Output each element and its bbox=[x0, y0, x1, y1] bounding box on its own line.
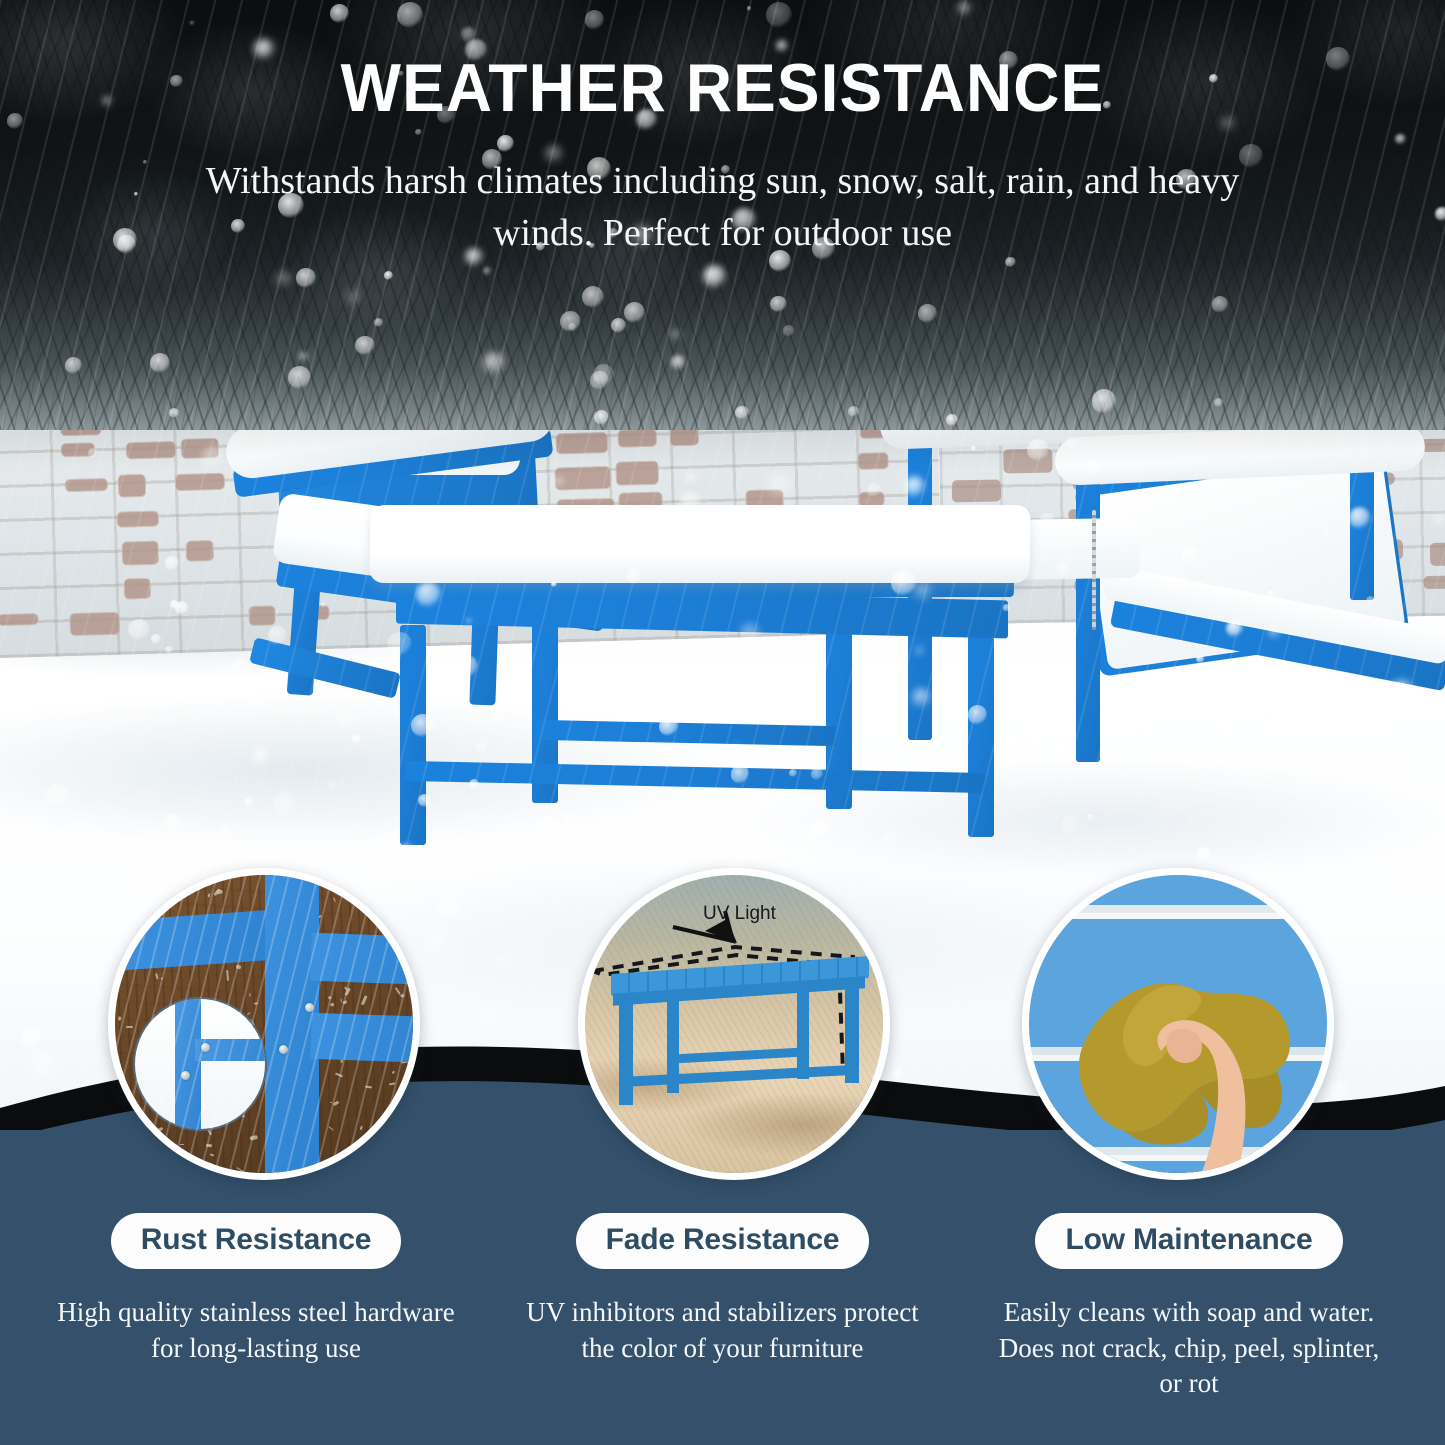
feature-image-low-maintenance bbox=[1022, 868, 1334, 1180]
page-subtitle: Withstands harsh climates including sun,… bbox=[193, 155, 1253, 260]
feature-image-fade-resistance: UV Light bbox=[578, 868, 890, 1180]
feature-column-low: Low Maintenance Easily cleans with soap … bbox=[973, 1213, 1405, 1402]
description-low-maintenance: Easily cleans with soap and water. Does … bbox=[989, 1295, 1389, 1402]
feature-image-rust-resistance bbox=[108, 868, 420, 1180]
product-infographic: UV Light Rust Resistance High quality st bbox=[0, 0, 1445, 1445]
coffee-table-center bbox=[370, 505, 1030, 835]
bench-illustration bbox=[601, 955, 881, 1105]
feature-columns: Rust Resistance High quality stainless s… bbox=[0, 1213, 1445, 1402]
pill-fade-resistance[interactable]: Fade Resistance bbox=[576, 1213, 870, 1269]
description-rust-resistance: High quality stainless steel hardware fo… bbox=[56, 1295, 456, 1366]
page-title: WEATHER RESISTANCE bbox=[43, 54, 1401, 122]
description-fade-resistance: UV inhibitors and stabilizers protect th… bbox=[523, 1295, 923, 1366]
feature-column-fade: Fade Resistance UV inhibitors and stabil… bbox=[507, 1213, 939, 1402]
pill-low-maintenance[interactable]: Low Maintenance bbox=[1035, 1213, 1342, 1269]
pill-rust-resistance[interactable]: Rust Resistance bbox=[111, 1213, 401, 1269]
feature-column-rust: Rust Resistance High quality stainless s… bbox=[40, 1213, 472, 1402]
uv-light-annotation: UV Light bbox=[703, 903, 776, 925]
